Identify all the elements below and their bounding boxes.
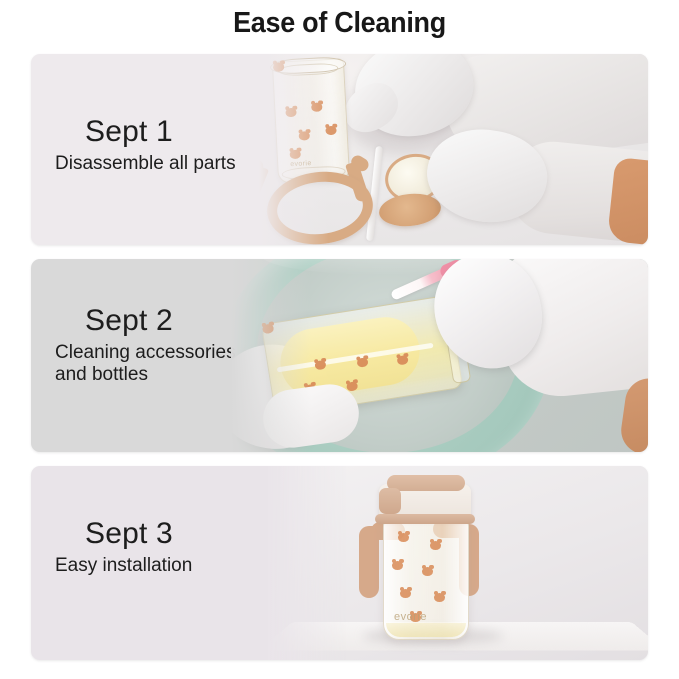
bear-pattern-icon [434,593,445,602]
step-1-subtitle: Disassemble all parts [55,153,236,175]
step-panel-2: evorie Sept 2 Cleaning accessories and b… [31,259,648,452]
infographic-page: Ease of Cleaning evorie [0,0,679,679]
bottle-liquid [386,623,466,637]
bear-pattern-icon [422,567,433,576]
page-title: Ease of Cleaning [24,7,655,40]
bottle-handle-left [359,526,379,598]
bear-pattern-icon [392,561,403,570]
photo-left-fade [267,466,347,660]
step-panel-1: evorie Sept 1 Disassemble all parts [31,54,648,245]
step-2-subtitle: Cleaning accessories and bottles [55,342,236,386]
step-1-text-block: Sept 1 Disassemble all parts [55,116,236,175]
step-2-text-block: Sept 2 Cleaning accessories and bottles [55,305,236,386]
bear-pattern-icon [430,541,441,550]
step-1-photo: evorie [259,54,648,245]
step-2-photo: evorie [231,259,648,452]
step-3-text-block: Sept 3 Easy installation [55,518,192,577]
brand-label: evorie [394,611,427,623]
photo-left-fade [231,259,311,452]
bottle-flip-lid [387,475,465,491]
step-1-heading: Sept 1 [85,116,236,148]
assembled-bottle: evorie [383,518,469,640]
step-3-subtitle: Easy installation [55,555,192,577]
step-3-photo: evorie [267,466,648,660]
bottle-cap-button [379,488,401,514]
lid-base-part [377,191,442,229]
step-panel-3: evorie Sept 3 Easy installation [31,466,648,660]
photo-left-fade [259,54,329,245]
step-2-heading: Sept 2 [85,305,236,337]
bear-pattern-icon [398,533,409,542]
step-3-heading: Sept 3 [85,518,192,550]
bottle-cap-ring [375,514,475,524]
bear-pattern-icon [400,589,411,598]
